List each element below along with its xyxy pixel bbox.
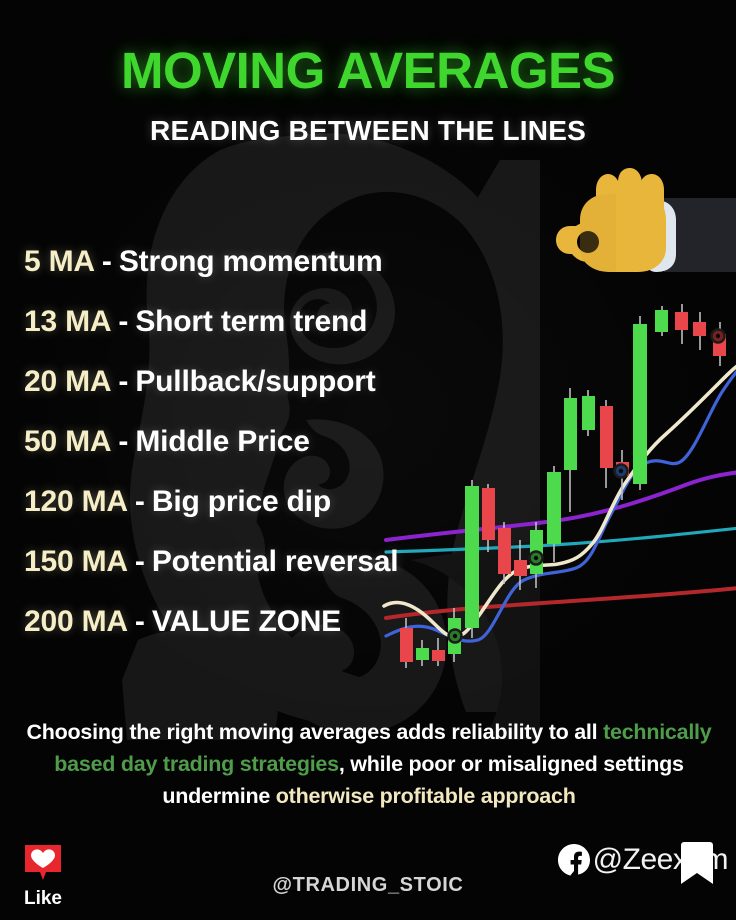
ma-meaning: Short term trend: [135, 305, 367, 339]
list-item: 50 MA - Middle Price: [24, 412, 504, 472]
summary-paragraph: Choosing the right moving averages adds …: [22, 716, 716, 812]
ma-meaning: Pullback/support: [135, 365, 375, 399]
ma-dash: -: [111, 425, 135, 459]
ma-period: 20 MA: [24, 365, 111, 399]
list-item: 5 MA - Strong momentum: [24, 232, 504, 292]
ma-period: 150 MA: [24, 545, 128, 579]
ma-meaning: Potential reversal: [152, 545, 399, 579]
list-item: 13 MA - Short term trend: [24, 292, 504, 352]
ma-period: 50 MA: [24, 425, 111, 459]
ma-dash: -: [128, 545, 152, 579]
ma-dash: -: [95, 245, 119, 279]
page-title: MOVING AVERAGES: [0, 43, 736, 99]
ma-meaning: Middle Price: [135, 425, 309, 459]
ma-period: 200 MA: [24, 605, 128, 639]
facebook-icon: [557, 843, 591, 877]
ma-meaning: VALUE ZONE: [152, 605, 341, 639]
ma-dash: -: [128, 485, 152, 519]
bookmark-icon: [679, 840, 715, 888]
infographic-poster: MOVING AVERAGES READING BETWEEN THE LINE…: [0, 0, 736, 920]
ma-period: 120 MA: [24, 485, 128, 519]
ma-dash: -: [111, 365, 135, 399]
ma-dash: -: [128, 605, 152, 639]
paragraph-part-1: Choosing the right moving averages adds …: [26, 720, 603, 744]
list-item: 120 MA - Big price dip: [24, 472, 504, 532]
ok-hand-icon: [536, 168, 736, 280]
list-item: 150 MA - Potential reversal: [24, 532, 504, 592]
ma-period: 13 MA: [24, 305, 111, 339]
ma-meaning: Big price dip: [152, 485, 331, 519]
moving-average-list: 5 MA - Strong momentum 13 MA - Short ter…: [24, 232, 504, 652]
footer-bar: Like @TRADING_STOIC @Zeexam Save: [0, 838, 736, 920]
paragraph-highlight-cream: otherwise profitable approach: [276, 784, 576, 808]
ma-meaning: Strong momentum: [119, 245, 383, 279]
save-button[interactable]: Save: [666, 842, 728, 917]
list-item: 20 MA - Pullback/support: [24, 352, 504, 412]
ma-period: 5 MA: [24, 245, 95, 279]
ma-dash: -: [111, 305, 135, 339]
page-subtitle: READING BETWEEN THE LINES: [0, 114, 736, 148]
list-item: 200 MA - VALUE ZONE: [24, 592, 504, 652]
